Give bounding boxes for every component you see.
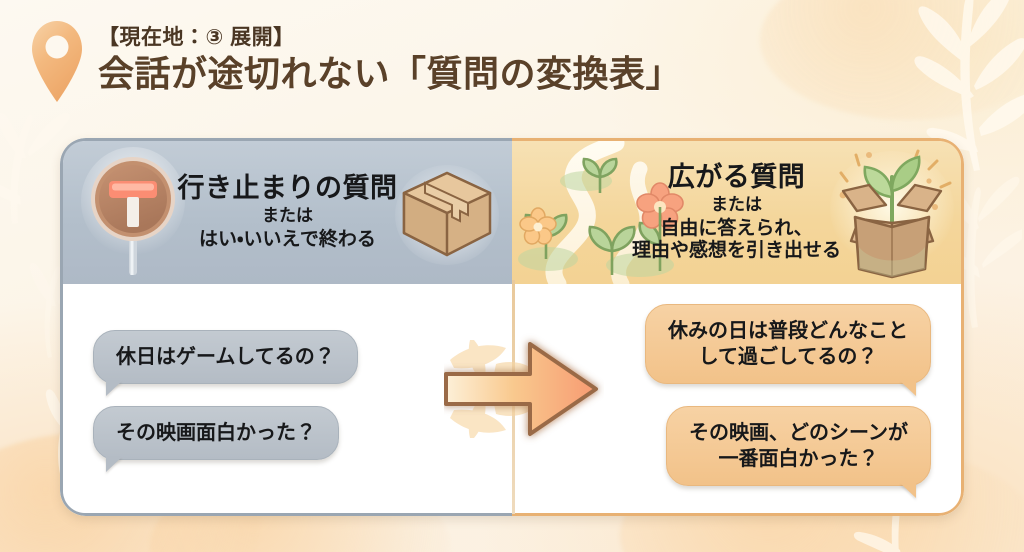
- left-header-subtitle: はい・いいえで終わる: [178, 229, 398, 252]
- closed-box-icon: [394, 159, 500, 267]
- slide-header: 【現在地：③ 展開】 会話が途切れない「質問の変換表」: [26, 14, 682, 104]
- left-header-text: 行き止まりの質問 または はい・いいえで終わる: [178, 173, 398, 252]
- left-header-or: または: [178, 203, 398, 229]
- breadcrumb-eyebrow: 【現在地：③ 展開】: [98, 26, 682, 49]
- bubble-open-question-2: その映画、どのシーンが 一番面白かった？: [666, 406, 931, 486]
- bubble-closed-question-1: 休日はゲームしてるの？: [93, 330, 358, 384]
- transform-arrow-group: [444, 330, 604, 448]
- bubble-text-line1: その映画、どのシーンが: [689, 420, 908, 446]
- slide-root: 【現在地：③ 展開】 会話が途切れない「質問の変換表」: [0, 0, 1024, 552]
- column-open-questions: 広がる質問 または 自由に答えられ、 理由や感想を引き出せる: [512, 138, 964, 516]
- right-header-subtitle-line2: 理由や感想を引き出せる: [632, 240, 841, 263]
- bubble-text-line2: 一番面白かった？: [689, 446, 908, 472]
- right-header-subtitle-line1: 自由に答えられ、: [632, 218, 841, 241]
- dead-end-sign-icon: [79, 147, 187, 279]
- bubble-text: その映画面白かった？: [116, 422, 316, 444]
- bubble-text-line1: 休みの日は普段どんなこと: [668, 318, 908, 344]
- column-dead-end-questions: 行き止まりの質問 または はい・いいえで終わる: [60, 138, 512, 516]
- page-title: 会話が途切れない「質問の変換表」: [98, 53, 682, 94]
- right-header-or: または: [632, 192, 841, 218]
- bubble-text-line2: して過ごしてるの？: [668, 344, 908, 370]
- right-column-header: 広がる質問 または 自由に答えられ、 理由や感想を引き出せる: [512, 141, 961, 284]
- bubble-closed-question-2: その映画面白かった？: [93, 406, 339, 460]
- header-text-block: 【現在地：③ 展開】 会話が途切れない「質問の変換表」: [98, 14, 682, 94]
- right-header-text: 広がる質問 または 自由に答えられ、 理由や感想を引き出せる: [632, 162, 841, 263]
- location-pin-icon: [26, 18, 88, 104]
- open-box-sprout-icon: [829, 147, 955, 279]
- left-header-title: 行き止まりの質問: [178, 173, 398, 203]
- left-column-header: 行き止まりの質問 または はい・いいえで終わる: [63, 141, 512, 284]
- bubble-text: 休日はゲームしてるの？: [116, 346, 335, 368]
- right-arrow-icon: [444, 330, 604, 448]
- right-header-title: 広がる質問: [632, 162, 841, 192]
- bubble-open-question-1: 休みの日は普段どんなこと して過ごしてるの？: [645, 304, 931, 384]
